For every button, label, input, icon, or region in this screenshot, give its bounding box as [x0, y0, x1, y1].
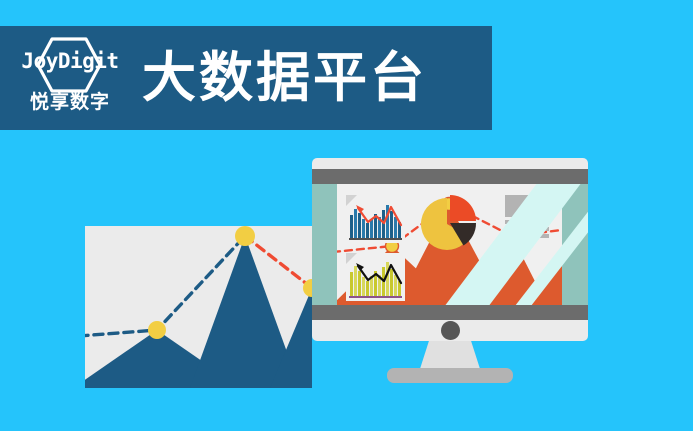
poster-canvas: JoyDigit 悦享数字 大数据平台	[0, 0, 693, 431]
placeholder-line	[505, 227, 549, 231]
left-mountain-panel	[85, 226, 312, 388]
placeholder-line	[505, 234, 549, 238]
trend-arrow-head	[356, 263, 364, 271]
bar-chart-blue-card	[346, 195, 405, 243]
monitor-power-button[interactable]	[441, 321, 460, 340]
brand-logo: JoyDigit 悦享数字	[14, 35, 126, 121]
screen-accent-band-left	[312, 184, 337, 305]
placeholder-heading-block	[505, 195, 549, 217]
page-fold-corner-icon	[346, 253, 357, 264]
monitor-screen	[312, 184, 588, 305]
page-fold-corner-icon	[346, 195, 357, 206]
placeholder-line	[505, 220, 549, 224]
logo-wordmark: JoyDigit	[14, 51, 126, 72]
data-point-marker	[148, 321, 166, 339]
monitor-frame	[312, 158, 588, 341]
pie-chart	[419, 194, 479, 254]
pie-slice-red	[450, 195, 476, 221]
monitor-bezel-bottom	[312, 305, 588, 320]
page-title: 大数据平台	[142, 51, 427, 105]
text-placeholder-block	[505, 195, 549, 240]
header-banner: JoyDigit 悦享数字 大数据平台	[0, 26, 492, 130]
logo-subtext: 悦享数字	[14, 93, 126, 112]
bar-chart-olive-card	[346, 253, 405, 301]
trend-arrow-head	[356, 205, 364, 213]
monitor-base	[387, 368, 513, 383]
left-mountain-chart	[85, 226, 312, 388]
data-point-marker	[235, 226, 255, 246]
monitor-bezel-top	[312, 169, 588, 184]
